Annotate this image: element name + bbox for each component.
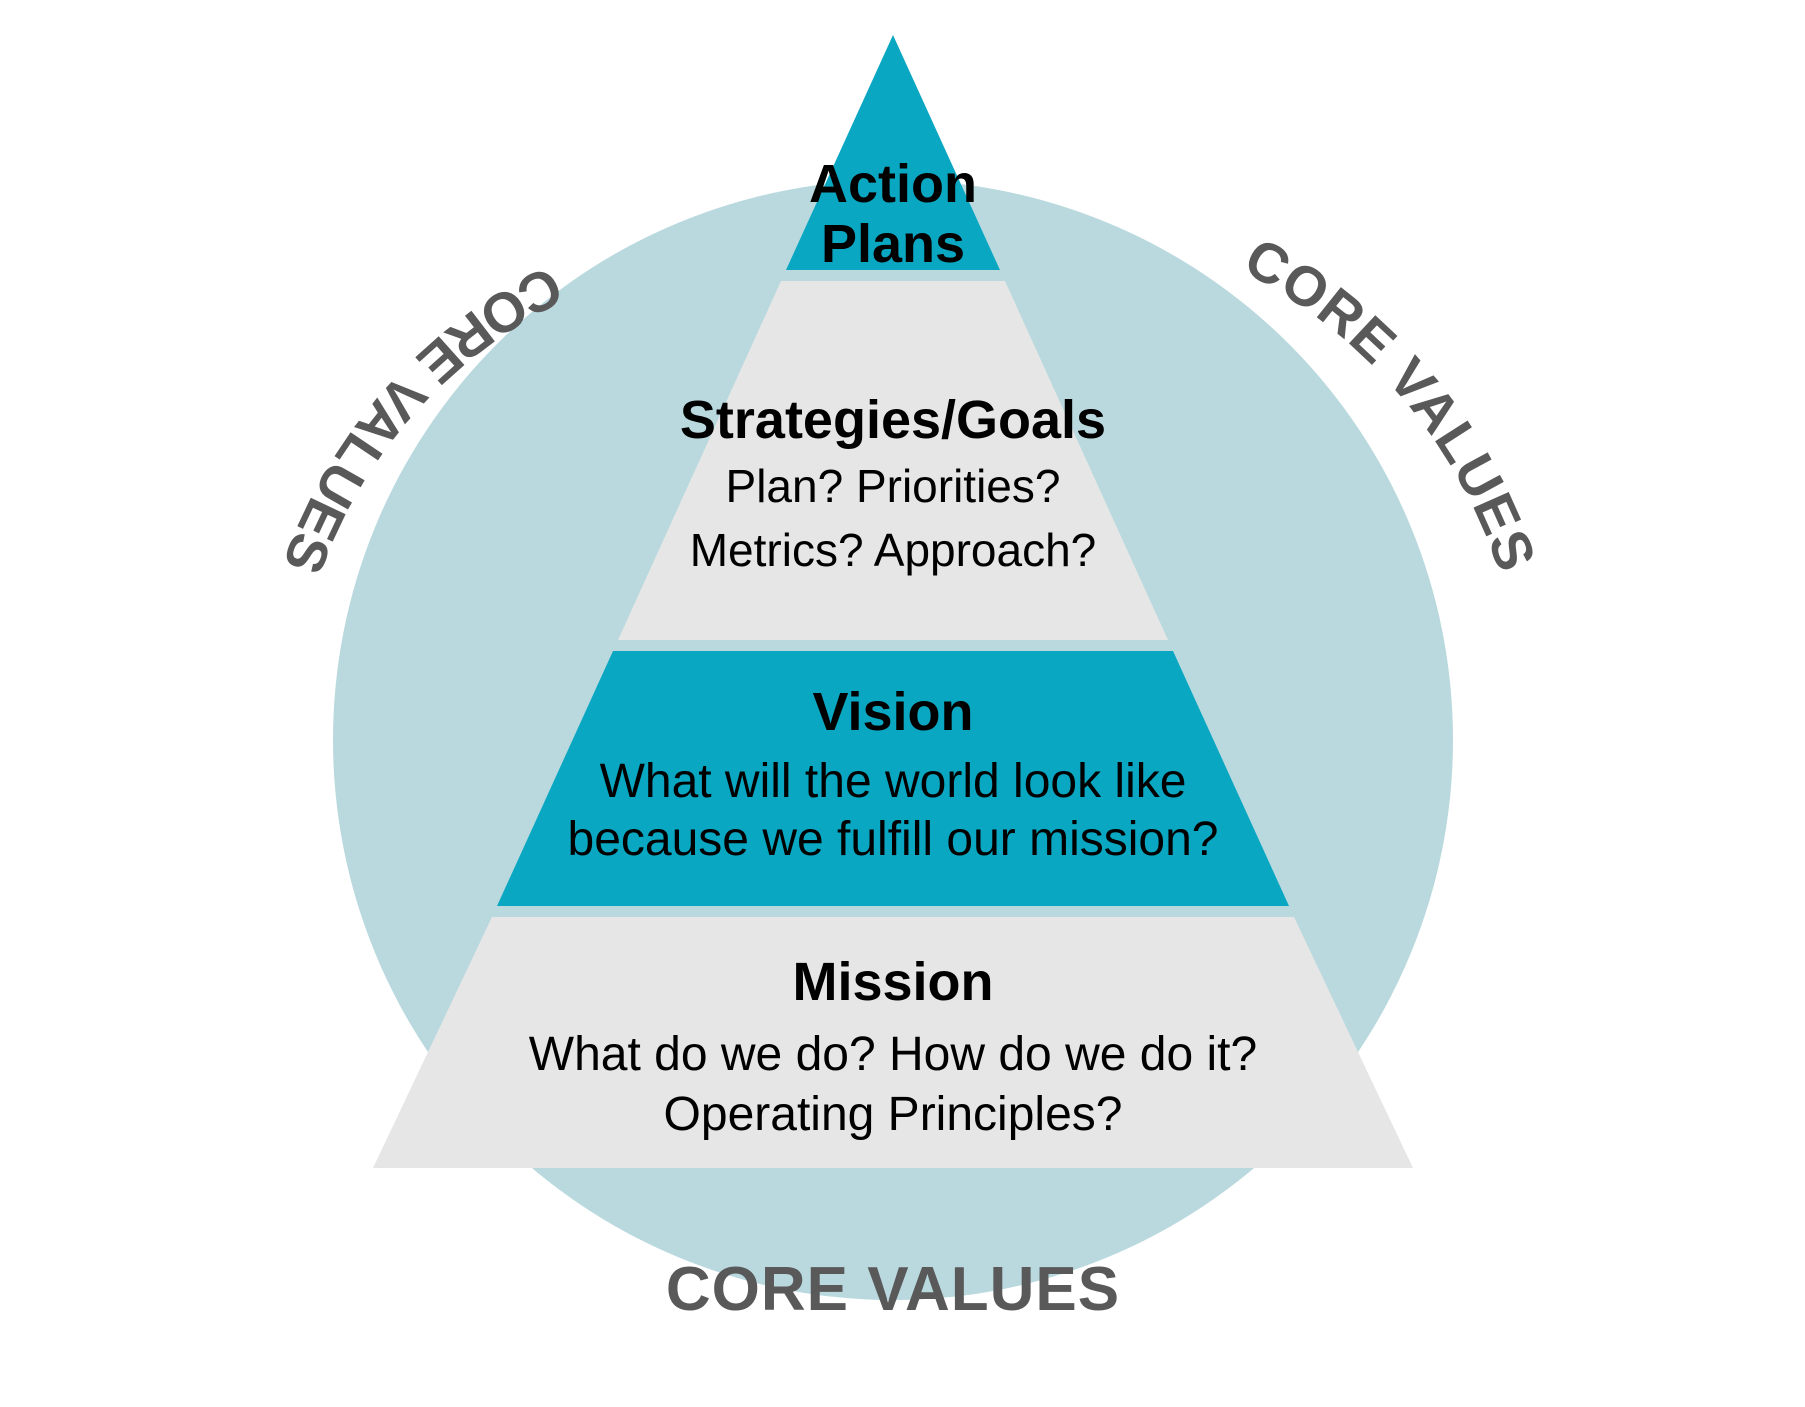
- strategy-pyramid-diagram: Action Plans Strategies/Goals Plan? Prio…: [0, 0, 1805, 1407]
- tier-strategies-goals-subtitle-line2: Metrics? Approach?: [690, 524, 1097, 576]
- core-values-label-bottom: CORE VALUES: [666, 1255, 1120, 1324]
- tier-strategies-goals-subtitle-line1: Plan? Priorities?: [726, 460, 1061, 512]
- tier-action-plans-title-line2: Plans: [821, 214, 965, 274]
- tier-mission-subtitle-line1: What do we do? How do we do it?: [529, 1028, 1257, 1081]
- tier-strategies-goals-title: Strategies/Goals: [680, 390, 1106, 450]
- tier-mission: Mission What do we do? How do we do it? …: [373, 917, 1413, 1168]
- tier-mission-title: Mission: [792, 952, 993, 1012]
- tier-vision-subtitle-line1: What will the world look like: [600, 755, 1187, 808]
- tier-vision-title: Vision: [812, 682, 973, 742]
- tier-vision: Vision What will the world look like bec…: [497, 651, 1289, 906]
- tier-action-plans: Action Plans: [786, 35, 1000, 274]
- tier-vision-subtitle-line2: because we fulfill our mission?: [568, 813, 1219, 866]
- tier-action-plans-title-line1: Action: [809, 154, 977, 214]
- tier-mission-subtitle-line2: Operating Principles?: [664, 1088, 1123, 1141]
- diagram-canvas: Action Plans Strategies/Goals Plan? Prio…: [0, 0, 1805, 1407]
